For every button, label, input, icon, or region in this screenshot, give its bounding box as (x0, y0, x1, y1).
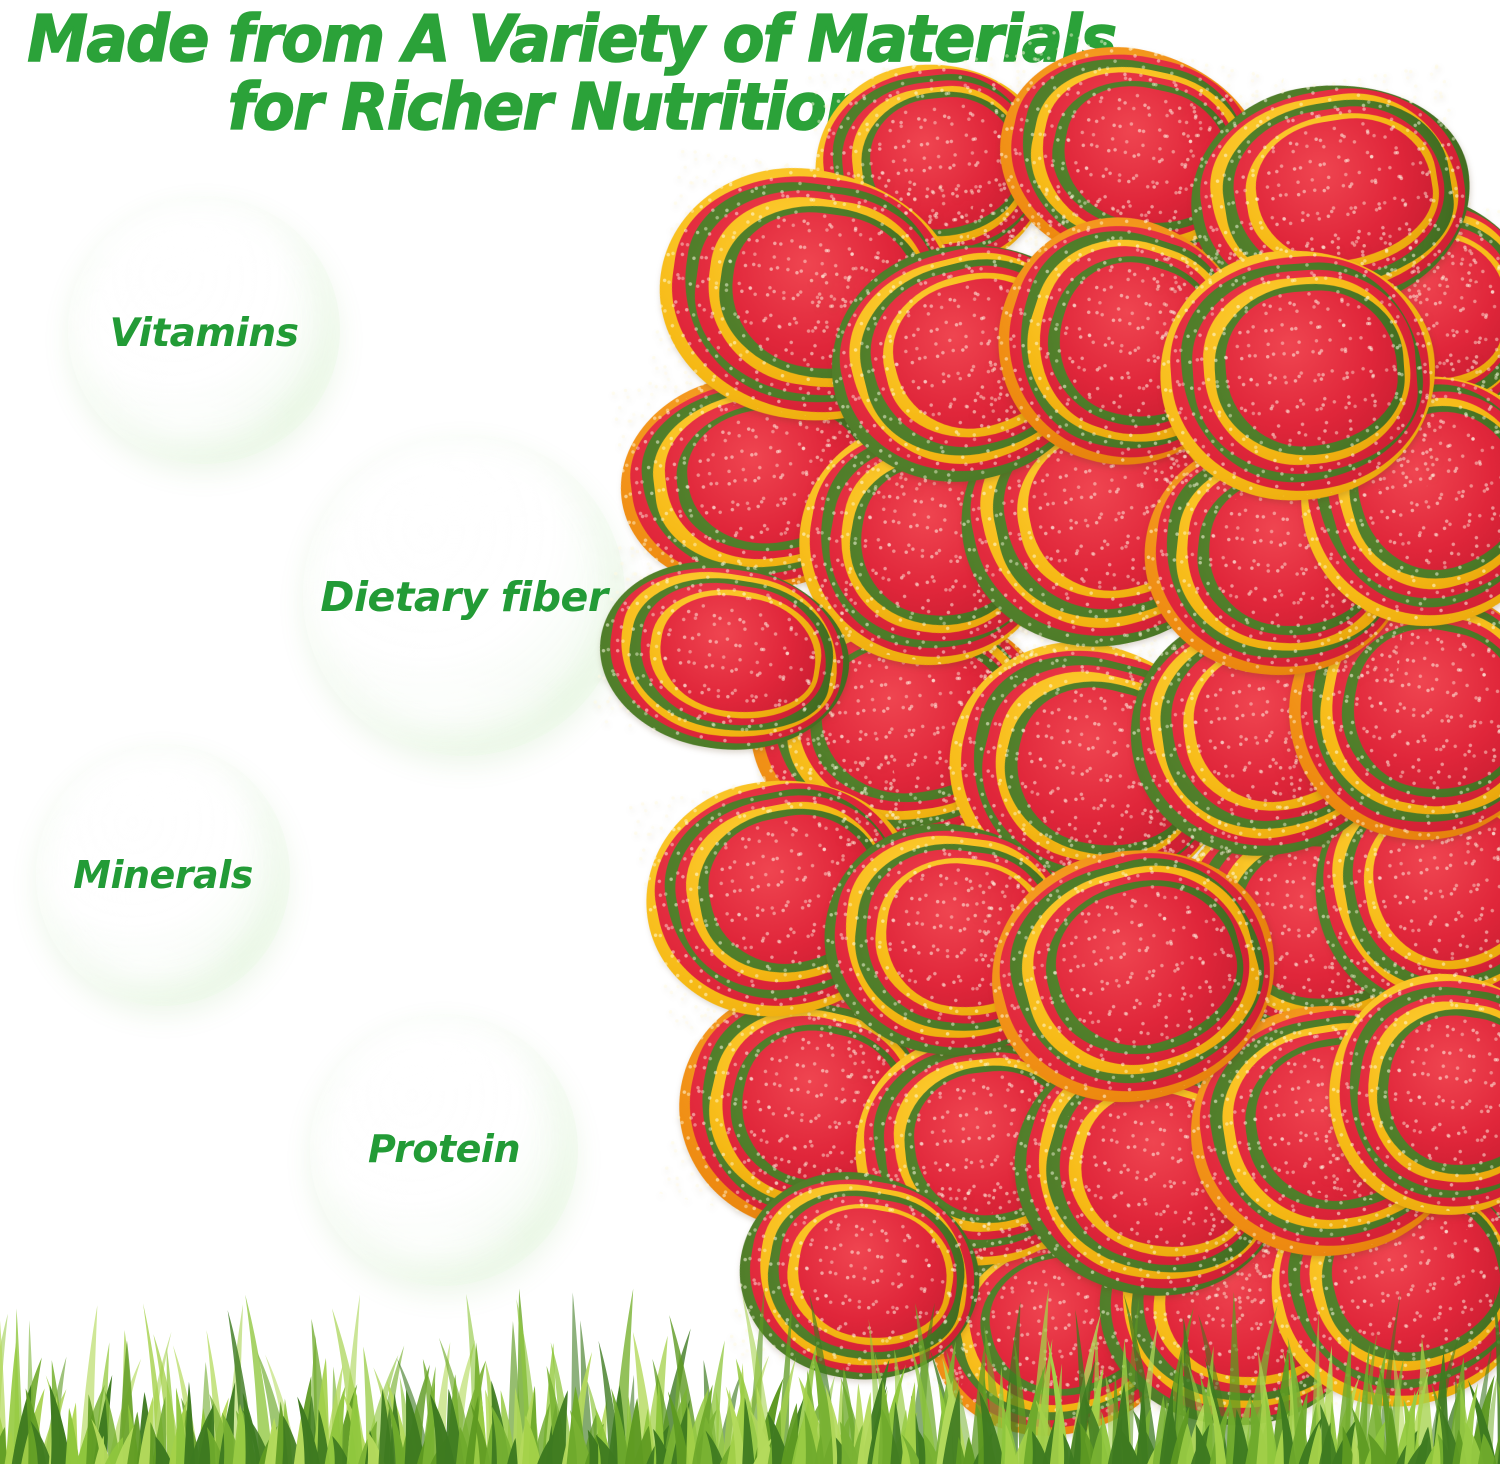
grass-blade (1477, 1433, 1498, 1464)
grass-blade (11, 1385, 32, 1464)
grass-blade (421, 1366, 435, 1464)
grass-blade (374, 1346, 404, 1464)
grass-blade (153, 1334, 181, 1464)
grass-blade (232, 1404, 252, 1464)
treat-slice (724, 1151, 996, 1395)
grass-blade (445, 1374, 461, 1464)
grass-blade (282, 1416, 304, 1464)
grass-blade (207, 1427, 226, 1464)
nutrient-bubble-label: Minerals (36, 853, 290, 897)
grass-blade (581, 1412, 597, 1464)
grass-blade (102, 1437, 123, 1464)
grass-blade (0, 1314, 8, 1464)
grass-blade (473, 1394, 488, 1464)
grass-blade (113, 1422, 137, 1464)
grass-blade (545, 1390, 568, 1464)
grass-blade (86, 1394, 102, 1464)
grass-blade (332, 1308, 367, 1464)
grass-blade (506, 1438, 518, 1464)
grass-blade (814, 1434, 825, 1464)
grass-blade (105, 1390, 122, 1464)
grass-blade (143, 1332, 172, 1464)
grass-blade (11, 1358, 42, 1464)
grass-blade (517, 1389, 535, 1464)
grass-blade (143, 1303, 166, 1464)
grass-blade (516, 1299, 540, 1464)
grass-blade (400, 1377, 415, 1464)
grass-blade (484, 1423, 498, 1464)
grass-blade (717, 1432, 741, 1464)
nutrient-bubble-vitamins: Vitamins (68, 196, 340, 464)
grass-blade (126, 1412, 143, 1464)
grass-blade (48, 1395, 61, 1464)
grass-blade (551, 1342, 574, 1464)
grass-blade (470, 1403, 491, 1464)
grass-blade (506, 1321, 523, 1464)
grass-blade (93, 1342, 109, 1464)
grass-blade (821, 1434, 841, 1464)
grass-blade (166, 1347, 176, 1464)
grass-blade (580, 1320, 594, 1464)
nutrient-bubble-protein: Protein (310, 1014, 578, 1286)
grass-blade (0, 1427, 8, 1464)
grass-blade (830, 1415, 851, 1464)
grass-blade (566, 1352, 592, 1464)
grass-blade (389, 1393, 403, 1464)
grass-blade (404, 1390, 426, 1464)
grass-blade (209, 1394, 235, 1464)
grass-blade (93, 1436, 105, 1464)
grass-blade (1176, 1423, 1196, 1464)
grass-blade (184, 1382, 196, 1464)
grass-blade (199, 1362, 215, 1464)
grass-blade (50, 1385, 72, 1464)
grass-blade (836, 1438, 854, 1464)
grass-blade (20, 1389, 45, 1464)
nutrient-bubble-minerals: Minerals (36, 744, 290, 1006)
nutrient-bubble-label: Protein (310, 1127, 578, 1171)
grass-blade (324, 1387, 345, 1464)
grass-blade (485, 1389, 503, 1464)
grass-blade (306, 1335, 318, 1464)
grass-blade (275, 1401, 289, 1464)
grass-blade (206, 1330, 225, 1464)
grass-blade (348, 1394, 358, 1464)
grass-blade (243, 1393, 262, 1464)
grass-blade (1244, 1424, 1263, 1464)
grass-blade (1405, 1437, 1429, 1464)
grass-blade (535, 1433, 554, 1464)
grass-blade (485, 1360, 504, 1464)
grass-blade (445, 1339, 475, 1464)
grass-blade (331, 1367, 343, 1464)
treat-slice (1152, 236, 1444, 505)
grass-blade (699, 1416, 720, 1464)
grass-blade (383, 1406, 395, 1464)
grass-blade (561, 1419, 574, 1464)
grass-blade (1352, 1436, 1363, 1464)
grass-blade (1492, 1434, 1500, 1464)
grass-blade (168, 1400, 187, 1464)
grass-blade (404, 1365, 430, 1464)
grass-blade (472, 1342, 487, 1464)
grass-blade (346, 1386, 364, 1464)
grass-blade (398, 1432, 419, 1464)
grass-blade (294, 1376, 311, 1464)
grass-blade (706, 1430, 726, 1464)
grass-blade (120, 1330, 136, 1464)
grass-blade (174, 1403, 193, 1464)
grass-blade (233, 1397, 247, 1464)
grass-blade (197, 1404, 215, 1464)
grass-blade (423, 1359, 447, 1464)
grass-blade (1368, 1433, 1392, 1464)
grass-blade (465, 1396, 481, 1464)
grass-blade (128, 1404, 140, 1464)
grass-blade (155, 1436, 175, 1464)
grass-blade (323, 1365, 343, 1464)
grass-blade (332, 1436, 352, 1464)
grass-blade (208, 1398, 229, 1464)
grass-blade (281, 1398, 293, 1464)
grass-blade (333, 1384, 357, 1464)
product-infographic-poster: Made from A Variety of Materials for Ric… (0, 0, 1500, 1464)
grass-blade (297, 1397, 321, 1464)
grass-blade (176, 1388, 189, 1464)
grass-blade (545, 1403, 562, 1464)
grass-blade (588, 1430, 608, 1464)
grass-blade (1120, 1429, 1142, 1464)
grass-blade (583, 1424, 604, 1464)
grass-blade (0, 1380, 10, 1464)
grass-blade (1189, 1424, 1209, 1464)
grass-blade (316, 1409, 330, 1464)
grass-blade (93, 1375, 113, 1464)
grass-blade (1451, 1429, 1467, 1464)
grass-blade (245, 1295, 273, 1464)
grass-blade (257, 1352, 291, 1464)
grass-blade (367, 1431, 387, 1464)
grass-blade (532, 1403, 550, 1464)
grass-blade (107, 1359, 141, 1464)
grass-blade (455, 1361, 486, 1464)
product-photo-treat-pile (600, 40, 1500, 1420)
grass-blade (136, 1392, 155, 1464)
grass-blade (236, 1410, 259, 1464)
grass-blade (1464, 1420, 1485, 1464)
nutrient-bubble-label: Vitamins (68, 311, 340, 356)
grass-blade (312, 1358, 331, 1464)
treat-slice (1314, 954, 1500, 1225)
grass-blade (387, 1380, 412, 1464)
grass-blade (466, 1294, 488, 1464)
grass-blade (570, 1292, 584, 1464)
grass-blade (373, 1367, 404, 1464)
grass-blade (1497, 1437, 1500, 1464)
grass-blade (311, 1319, 331, 1464)
grass-blade (455, 1427, 473, 1464)
grass-blade (416, 1419, 436, 1464)
grass-blade (228, 1310, 256, 1464)
grass-blade (444, 1389, 465, 1464)
grass-blade (566, 1386, 587, 1464)
grass-blade (512, 1387, 527, 1464)
grass-blade (342, 1294, 360, 1464)
grass-blade (570, 1410, 593, 1464)
grass-blade (303, 1395, 319, 1464)
grass-blade (5, 1341, 20, 1464)
grass-blade (4, 1430, 17, 1464)
grass-blade (138, 1397, 153, 1464)
grass-blade (364, 1430, 378, 1464)
nutrient-bubble-label: Dietary fiber (303, 573, 625, 621)
grass-blade (378, 1389, 394, 1464)
grass-blade (501, 1390, 517, 1464)
grass-blade (516, 1289, 532, 1464)
grass-blade (547, 1366, 569, 1464)
grass-blade (491, 1380, 510, 1464)
nutrient-bubble-dietary-fiber: Dietary fiber (303, 434, 625, 756)
grass-blade (30, 1421, 53, 1464)
grass-blade (422, 1381, 435, 1464)
grass-blade (46, 1375, 71, 1464)
grass-blade (270, 1410, 286, 1464)
grass-blade (173, 1346, 200, 1464)
grass-blade (840, 1421, 862, 1464)
grass-blade (222, 1413, 244, 1464)
grass-blade (26, 1320, 36, 1464)
grass-blade (117, 1340, 136, 1464)
grass-blade (644, 1425, 669, 1464)
grass-blade (751, 1437, 773, 1464)
grass-blade (264, 1418, 282, 1464)
grass-blade (632, 1426, 654, 1464)
grass-blade (78, 1305, 97, 1464)
grass-blade (430, 1394, 456, 1464)
grass-blade (397, 1358, 432, 1464)
grass-blade (293, 1410, 311, 1464)
grass-blade (1363, 1421, 1385, 1464)
grass-blade (1194, 1424, 1213, 1464)
grass-blade (541, 1343, 557, 1464)
grass-blade (1145, 1437, 1163, 1464)
grass-blade (43, 1357, 66, 1464)
grass-blade (181, 1398, 202, 1464)
grass-blade (188, 1406, 213, 1464)
grass-blade (596, 1435, 622, 1464)
grass-blade (428, 1436, 449, 1464)
grass-blade (491, 1405, 517, 1464)
grass-blade (356, 1421, 377, 1464)
grass-blade (26, 1388, 47, 1464)
grass-blade (13, 1309, 23, 1464)
grass-blade (923, 1433, 943, 1464)
grass-blade (25, 1399, 35, 1464)
grass-blade (342, 1392, 371, 1464)
grass-blade (521, 1415, 542, 1464)
grass-blade (849, 1425, 865, 1464)
treat-slice (587, 542, 863, 764)
grass-blade (0, 1313, 7, 1464)
grass-blade (0, 1385, 1, 1464)
grass-blade (387, 1399, 407, 1464)
grass-blade (1394, 1430, 1417, 1464)
grass-blade (149, 1422, 164, 1464)
grass-blade (265, 1355, 298, 1464)
grass-blade (257, 1426, 278, 1464)
grass-blade (902, 1434, 923, 1464)
grass-blade (1438, 1434, 1455, 1464)
grass-blade (64, 1402, 78, 1464)
grass-blade (1063, 1433, 1076, 1464)
grass-blade (77, 1385, 105, 1464)
grass-blade (362, 1355, 398, 1464)
grass-blade (242, 1410, 273, 1464)
grass-blade (917, 1428, 935, 1464)
grass-blade (431, 1342, 450, 1464)
grass-blade (218, 1382, 235, 1464)
grass-blade (197, 1408, 211, 1464)
grass-blade (51, 1360, 66, 1464)
grass-blade (1422, 1436, 1441, 1464)
grass-blade (1107, 1417, 1123, 1464)
grass-blade (91, 1419, 112, 1464)
grass-blade (363, 1347, 379, 1464)
grass-blade (226, 1304, 243, 1464)
grass-blade (1414, 1427, 1434, 1464)
grass-blade (38, 1389, 66, 1464)
grass-blade (439, 1338, 475, 1464)
grass-blade (523, 1386, 538, 1464)
grass-blade (653, 1429, 674, 1464)
grass-blade (65, 1408, 80, 1464)
grass-blade (152, 1397, 167, 1464)
grass-blade (75, 1416, 94, 1464)
